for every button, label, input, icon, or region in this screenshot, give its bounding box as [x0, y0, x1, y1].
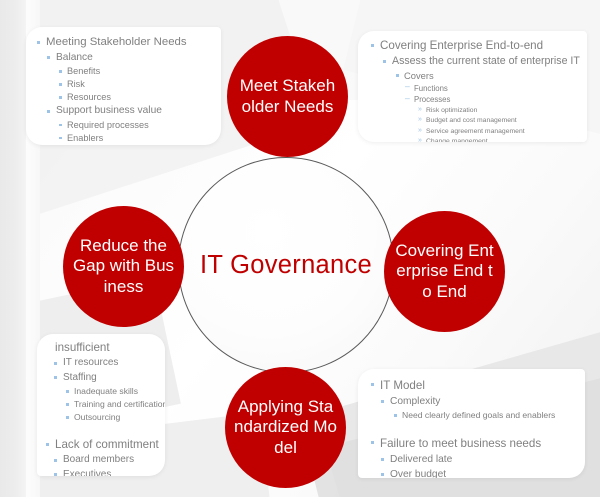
bullet-item: Board members	[43, 453, 163, 468]
bullet-text: Functions	[414, 83, 448, 95]
node-applying-standardized-model[interactable]: Applying Standardized Model	[225, 367, 346, 488]
bullet-item: Need clearly defined goals and enablers	[366, 409, 581, 422]
bullet-text: Risk optimization	[426, 106, 477, 117]
bullet-text: Failure to meet business needs	[380, 435, 541, 452]
bullet-item: Budget and cost management	[364, 116, 583, 127]
node-label: Reduce the Gap with Business	[72, 236, 175, 296]
bullet-item: Failure to meet business needs	[366, 435, 581, 452]
it-governance-diagram-slide: IT Governance Meet Stakeholder Needs Red…	[0, 0, 600, 497]
node-label: Meet Stakeholder Needs	[236, 76, 339, 116]
bullet-item: Balance	[32, 51, 215, 66]
bullet-text: IT resources	[63, 356, 118, 371]
bullet-text: Assess the current state of enterprise I…	[392, 54, 580, 69]
bullet-text: Need clearly defined goals and enablers	[402, 409, 555, 422]
bullet-item: IT resources	[43, 356, 163, 371]
bullet-list: Meeting Stakeholder NeedsBalanceBenefits…	[32, 35, 215, 145]
bullet-text: Executives	[63, 468, 111, 477]
bullet-text: Change mangement	[426, 137, 488, 142]
meeting-stakeholder-needs-card: Meeting Stakeholder NeedsBalanceBenefits…	[26, 27, 221, 145]
bullet-text: Inadequate skills	[74, 385, 138, 398]
bullet-item: IT Model	[366, 377, 581, 394]
bullet-text: Lack of commitment	[55, 437, 159, 453]
bullet-list: insufficientIT resourcesStaffingInadequa…	[43, 340, 163, 476]
bullet-text: IT Model	[380, 377, 425, 394]
node-covering-enterprise-end-to-end[interactable]: Covering Enterprise End to End	[384, 211, 505, 332]
bullet-item: Service agreement management	[364, 127, 583, 138]
bullet-item: Executives	[43, 468, 163, 477]
bullet-item: Enablers	[32, 132, 215, 145]
standardized-model-card: IT ModelComplexityNeed clearly defined g…	[358, 369, 585, 478]
diagram-title: IT Governance	[200, 251, 372, 280]
bullet-list: IT ModelComplexityNeed clearly defined g…	[366, 377, 581, 478]
bullet-item: Support business value	[32, 104, 215, 119]
bullet-text: Benefits	[67, 65, 100, 78]
bullet-item: Meeting Stakeholder Needs	[32, 35, 215, 51]
bullet-item: Inadequate skills	[43, 385, 163, 398]
bullet-text: Balance	[56, 51, 93, 66]
bullet-text: Service agreement management	[426, 127, 525, 138]
bullet-text: Factors that influence desirable outcome…	[77, 145, 214, 146]
bullet-item: Processes	[364, 94, 583, 106]
bullet-item: Change mangement	[364, 137, 583, 142]
background-band-left	[0, 0, 26, 497]
bullet-item: Over budget	[366, 467, 581, 478]
bullet-text: Board members	[63, 453, 134, 468]
bullet-text: Staffing	[63, 371, 97, 386]
gap-with-business-card: insufficientIT resourcesStaffingInadequa…	[37, 334, 165, 476]
bullet-item: Complexity	[366, 394, 581, 409]
bullet-text: Required processes	[67, 119, 149, 132]
bullet-text: Delivered late	[390, 452, 452, 467]
bullet-text: Covering Enterprise End-to-end	[380, 38, 543, 54]
node-label: Applying Standardized Model	[234, 397, 337, 457]
bullet-item: insufficient	[43, 340, 163, 356]
bullet-text: Training and certification	[74, 398, 165, 411]
covering-enterprise-card: Covering Enterprise End-to-endAssess the…	[358, 31, 587, 142]
bullet-text: Support business value	[56, 104, 162, 119]
bullet-item: Factors that influence desirable outcome…	[32, 145, 215, 146]
bullet-spacer	[43, 424, 163, 437]
node-label: Covering Enterprise End to End	[393, 241, 496, 301]
bullet-item: Staffing	[43, 371, 163, 386]
bullet-text: Meeting Stakeholder Needs	[46, 35, 187, 51]
node-reduce-gap-with-business[interactable]: Reduce the Gap with Business	[63, 206, 184, 327]
bullet-text: insufficient	[55, 341, 110, 354]
bullet-item: Covering Enterprise End-to-end	[364, 38, 583, 54]
bullet-item: Required processes	[32, 119, 215, 132]
bullet-item: Assess the current state of enterprise I…	[364, 54, 583, 69]
bullet-text: Budget and cost management	[426, 116, 517, 127]
bullet-item: Covers	[364, 69, 583, 83]
bullet-item: Benefits	[32, 65, 215, 78]
bullet-item: Risk optimization	[364, 106, 583, 117]
bullet-text: Outsourcing	[74, 411, 120, 424]
center-title-wrapper: IT Governance	[178, 157, 394, 373]
bullet-text: Resources	[67, 91, 111, 104]
bullet-text: Over budget	[390, 467, 446, 478]
bullet-text: Complexity	[390, 394, 440, 409]
node-meet-stakeholder-needs[interactable]: Meet Stakeholder Needs	[227, 36, 348, 157]
bullet-item: Delivered late	[366, 452, 581, 467]
bullet-spacer	[366, 422, 581, 435]
bullet-text: Risk	[67, 78, 85, 91]
bullet-item: Outsourcing	[43, 411, 163, 424]
bullet-item: Lack of commitment	[43, 437, 163, 453]
bullet-item: Training and certification	[43, 398, 163, 411]
bullet-item: Resources	[32, 91, 215, 104]
bullet-item: Functions	[364, 83, 583, 95]
bullet-item: Risk	[32, 78, 215, 91]
bullet-list: Covering Enterprise End-to-endAssess the…	[364, 38, 583, 142]
